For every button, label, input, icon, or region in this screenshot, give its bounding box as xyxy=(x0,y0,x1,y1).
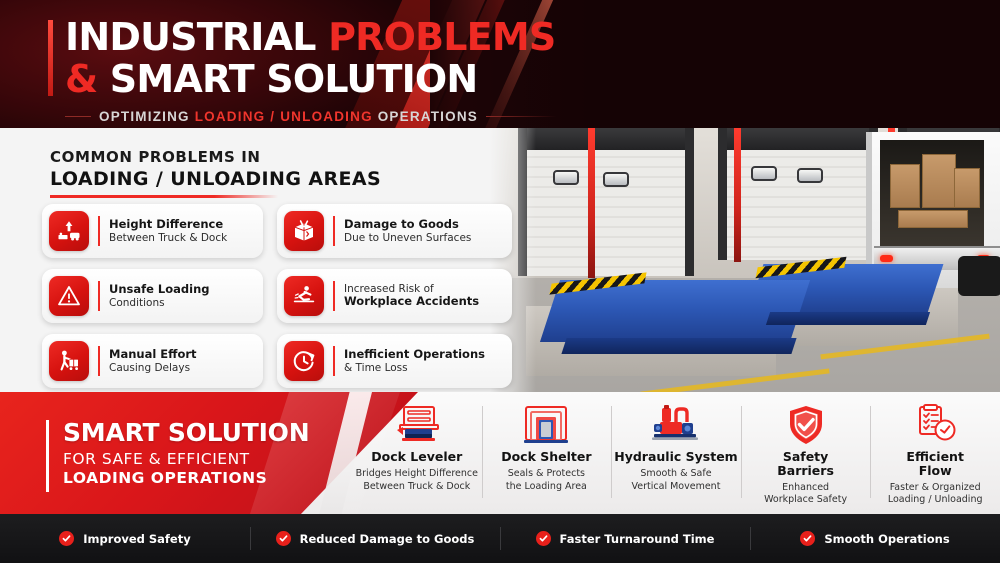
solution-item-efficient-flow[interactable]: Efficient Flow Faster & Organized Loadin… xyxy=(870,392,1000,514)
solution-accent-bar xyxy=(46,420,49,492)
card-subtitle: Between Truck & Dock xyxy=(109,232,227,244)
card-title: Workplace Accidents xyxy=(344,295,479,309)
header-title-line-2: & SMART SOLUTION xyxy=(48,58,556,100)
solution-subtitle-line-2: LOADING OPERATIONS xyxy=(46,469,309,487)
card-text: Manual Effort Causing Delays xyxy=(109,348,197,374)
card-divider xyxy=(333,216,335,246)
problem-card-row: Manual Effort Causing Delays In xyxy=(42,334,512,388)
manual-cart-push-icon xyxy=(49,341,89,381)
warehouse-loading-dock-photo xyxy=(490,128,1000,392)
truck-dock-height-icon xyxy=(49,211,89,251)
subtitle-text: OPTIMIZING LOADING / UNLOADING OPERATION… xyxy=(99,109,478,124)
solution-item-safety-barriers[interactable]: Safety Barriers Enhanced Workplace Safet… xyxy=(741,392,871,514)
card-text: Inefficient Operations & Time Loss xyxy=(344,348,485,374)
card-divider xyxy=(333,346,335,376)
solution-desc-safety-barriers: Enhanced Workplace Safety xyxy=(764,482,847,508)
header-title-line-1: INDUSTRIAL PROBLEMS xyxy=(48,16,556,58)
solution-desc-efficient-flow: Faster & Organized Loading / Unloading xyxy=(888,482,983,508)
title-line-2: Flow xyxy=(919,463,952,478)
desc-line-1: Seals & Protects xyxy=(508,468,585,479)
solution-desc-hydraulic-system: Smooth & Safe Vertical Movement xyxy=(632,468,721,494)
solution-item-dock-shelter[interactable]: Dock Shelter Seals & Protects the Loadin… xyxy=(482,392,612,514)
card-text: Damage to Goods Due to Uneven Surfaces xyxy=(344,218,471,244)
solution-title-hydraulic-system: Hydraulic System xyxy=(614,450,737,464)
subtitle-optimizing: OPTIMIZING xyxy=(99,109,195,124)
desc-line-1: Faster & Organized xyxy=(890,482,981,493)
header-title-word-problems: PROBLEMS xyxy=(328,15,555,59)
dock-shelter-icon xyxy=(522,402,570,448)
dock-leveler-icon xyxy=(391,402,443,448)
problems-section: COMMON PROBLEMS IN LOADING / UNLOADING A… xyxy=(0,128,1000,392)
solution-title-dock-shelter: Dock Shelter xyxy=(501,450,591,464)
card-subtitle: Conditions xyxy=(109,297,210,309)
solution-title-efficient-flow: Efficient Flow xyxy=(906,450,964,478)
solution-desc-dock-leveler: Bridges Height Difference Between Truck … xyxy=(356,468,478,494)
warning-triangle-icon xyxy=(49,276,89,316)
solution-heading-block: SMART SOLUTION FOR SAFE & EFFICIENT LOAD… xyxy=(46,418,309,487)
clock-delay-icon xyxy=(284,341,324,381)
desc-line-1: Bridges Height Difference xyxy=(356,468,478,479)
solution-band: SMART SOLUTION FOR SAFE & EFFICIENT LOAD… xyxy=(0,392,1000,514)
desc-line-1: Enhanced xyxy=(782,482,829,493)
benefit-label: Improved Safety xyxy=(83,532,190,546)
subtitle-unloading: UNLOADING xyxy=(280,109,373,124)
header-title-ampersand: & xyxy=(65,57,110,101)
check-circle-icon xyxy=(800,531,815,546)
damaged-box-icon xyxy=(284,211,324,251)
problems-heading-underline xyxy=(50,195,278,198)
subtitle-dash-right xyxy=(486,116,556,117)
solution-item-dock-leveler[interactable]: Dock Leveler Bridges Height Difference B… xyxy=(352,392,482,514)
card-title: Height Difference xyxy=(109,218,227,232)
benefit-item-faster-turnaround[interactable]: Faster Turnaround Time xyxy=(500,514,750,563)
desc-line-1: Smooth & Safe xyxy=(640,468,711,479)
problem-card-manual-effort[interactable]: Manual Effort Causing Delays xyxy=(42,334,263,388)
solution-subtitle-line-1: FOR SAFE & EFFICIENT xyxy=(46,450,309,468)
card-divider xyxy=(98,281,100,311)
benefit-item-improved-safety[interactable]: Improved Safety xyxy=(0,514,250,563)
problem-card-damage-to-goods[interactable]: Damage to Goods Due to Uneven Surfaces xyxy=(277,204,512,258)
problems-heading-line-2: LOADING / UNLOADING AREAS xyxy=(50,168,381,190)
desc-line-2: the Loading Area xyxy=(506,481,587,492)
problem-card-row: Height Difference Between Truck & Dock xyxy=(42,204,512,258)
benefit-label: Faster Turnaround Time xyxy=(560,532,715,546)
problems-heading-line-1: COMMON PROBLEMS IN xyxy=(50,148,381,166)
infographic-poster: INDUSTRIAL PROBLEMS & SMART SOLUTION OPT… xyxy=(0,0,1000,563)
subtitle-operations: OPERATIONS xyxy=(373,109,478,124)
desc-line-2: Vertical Movement xyxy=(632,481,721,492)
shield-check-icon xyxy=(786,402,826,448)
desc-line-2: Between Truck & Dock xyxy=(363,481,470,492)
card-divider xyxy=(98,346,100,376)
check-circle-icon xyxy=(59,531,74,546)
title-line-2: Barriers xyxy=(777,463,834,478)
check-circle-icon xyxy=(536,531,551,546)
header-accent-bar xyxy=(48,20,53,96)
card-subtitle: & Time Loss xyxy=(344,362,485,374)
subtitle-loading: LOADING xyxy=(195,109,266,124)
solution-items: Dock Leveler Bridges Height Difference B… xyxy=(352,392,1000,514)
card-divider xyxy=(98,216,100,246)
desc-line-2: Loading / Unloading xyxy=(888,494,983,505)
card-title: Inefficient Operations xyxy=(344,348,485,362)
problem-card-height-difference[interactable]: Height Difference Between Truck & Dock xyxy=(42,204,263,258)
desc-line-2: Workplace Safety xyxy=(764,494,847,505)
benefits-footer: Improved Safety Reduced Damage to Goods … xyxy=(0,514,1000,563)
slip-fall-icon xyxy=(284,276,324,316)
problem-card-workplace-accidents[interactable]: Increased Risk of Workplace Accidents xyxy=(277,269,512,323)
hydraulic-pump-icon xyxy=(650,402,702,448)
problems-heading: COMMON PROBLEMS IN LOADING / UNLOADING A… xyxy=(50,148,381,198)
solution-title-dock-leveler: Dock Leveler xyxy=(371,450,462,464)
solution-desc-dock-shelter: Seals & Protects the Loading Area xyxy=(506,468,587,494)
problem-cards-grid: Height Difference Between Truck & Dock xyxy=(42,204,512,392)
header-title-word-smart-solution: SMART SOLUTION xyxy=(110,57,478,101)
subtitle-separator: / xyxy=(265,109,280,124)
card-text: Increased Risk of Workplace Accidents xyxy=(344,283,479,309)
card-text: Height Difference Between Truck & Dock xyxy=(109,218,227,244)
benefit-item-reduced-damage[interactable]: Reduced Damage to Goods xyxy=(250,514,500,563)
benefit-item-smooth-operations[interactable]: Smooth Operations xyxy=(750,514,1000,563)
benefit-label: Smooth Operations xyxy=(824,532,949,546)
header-title-word-industrial: INDUSTRIAL xyxy=(65,15,328,59)
solution-title: SMART SOLUTION xyxy=(46,418,309,447)
problem-card-row: Unsafe Loading Conditions xyxy=(42,269,512,323)
card-title: Damage to Goods xyxy=(344,218,471,232)
solution-title-safety-barriers: Safety Barriers xyxy=(777,450,834,478)
problem-card-inefficient-operations[interactable]: Inefficient Operations & Time Loss xyxy=(277,334,512,388)
title-line-1: Efficient xyxy=(906,449,964,464)
checklist-clock-icon xyxy=(911,402,959,448)
card-divider xyxy=(333,281,335,311)
benefit-label: Reduced Damage to Goods xyxy=(300,532,475,546)
card-title: Unsafe Loading xyxy=(109,283,210,297)
check-circle-icon xyxy=(276,531,291,546)
photo-left-fade xyxy=(490,128,1000,392)
header-subtitle: OPTIMIZING LOADING / UNLOADING OPERATION… xyxy=(48,109,556,124)
card-subtitle: Causing Delays xyxy=(109,362,197,374)
card-subtitle: Due to Uneven Surfaces xyxy=(344,232,471,244)
card-title: Manual Effort xyxy=(109,348,197,362)
header-text-block: INDUSTRIAL PROBLEMS & SMART SOLUTION OPT… xyxy=(48,16,556,124)
problem-card-unsafe-loading[interactable]: Unsafe Loading Conditions xyxy=(42,269,263,323)
subtitle-dash-left xyxy=(65,116,91,117)
card-text: Unsafe Loading Conditions xyxy=(109,283,210,309)
solution-item-hydraulic-system[interactable]: Hydraulic System Smooth & Safe Vertical … xyxy=(611,392,741,514)
header-banner: INDUSTRIAL PROBLEMS & SMART SOLUTION OPT… xyxy=(0,0,1000,128)
title-line-1: Safety xyxy=(783,449,828,464)
